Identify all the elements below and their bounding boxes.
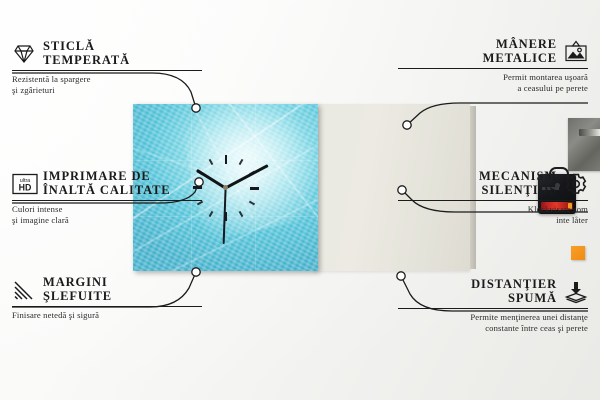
metal-hanger-plate — [568, 118, 600, 171]
callout-title: MÂNEREMETALICE — [483, 38, 557, 65]
ultra-hd-icon: ultra HD — [12, 172, 36, 196]
hanger-slot — [579, 129, 600, 136]
callout-title: MARGINIŞLEFUITE — [43, 276, 112, 303]
callout-margini-slefuite: MARGINIŞLEFUITE Finisare netedă şi sigur… — [12, 276, 202, 321]
callout-header: MECANISMSILENŢIOS — [398, 170, 588, 197]
foam-spacer — [571, 246, 585, 260]
callout-subtitle: Permite menţinerea unei distanţeconstant… — [398, 312, 588, 333]
callout-rule — [12, 306, 202, 307]
svg-text:HD: HD — [19, 182, 32, 192]
callout-title: STICLĂTEMPERATĂ — [43, 40, 130, 67]
diamond-icon — [12, 42, 36, 66]
callout-header: ultra HD IMPRIMARE DEÎNALTĂ CALITATE — [12, 170, 202, 197]
callout-distantier-spuma: DISTANŢIERSPUMĂ Permite menţinerea unei … — [398, 278, 588, 333]
callout-mecanism-silentios: MECANISMSILENŢIOS Klockvisare sominte lå… — [398, 170, 588, 225]
callout-header: DISTANŢIERSPUMĂ — [398, 278, 588, 305]
callout-rule — [12, 200, 202, 201]
callout-manere-metalice: MÂNEREMETALICE Permit montarea uşoarăa c… — [398, 38, 588, 93]
callout-title: DISTANŢIERSPUMĂ — [471, 278, 557, 305]
callout-title: IMPRIMARE DEÎNALTĂ CALITATE — [43, 170, 171, 197]
callout-subtitle: Culori intenseşi imagine clară — [12, 204, 202, 225]
gear-icon — [564, 172, 588, 196]
picture-hanger-icon — [564, 40, 588, 64]
callout-header: MARGINIŞLEFUITE — [12, 276, 202, 303]
callout-rule — [398, 308, 588, 309]
clock-center-pin — [223, 185, 228, 190]
callout-rule — [398, 200, 588, 201]
callout-rule — [398, 68, 588, 69]
callout-subtitle: Rezistentă la spargereşi zgârieturi — [12, 74, 202, 95]
callout-subtitle: Klockvisare sominte låter — [398, 204, 588, 225]
callout-subtitle: Permit montarea uşoarăa ceasului pe pere… — [398, 72, 588, 93]
beveled-edge-icon — [12, 278, 36, 302]
callout-header: MÂNEREMETALICE — [398, 38, 588, 65]
callout-sticla-temperata: STICLĂTEMPERATĂ Rezistentă la spargereşi… — [12, 40, 202, 95]
infographic-canvas: STICLĂTEMPERATĂ Rezistentă la spargereşi… — [0, 0, 600, 400]
content-layer: STICLĂTEMPERATĂ Rezistentă la spargereşi… — [0, 0, 600, 400]
callout-title: MECANISMSILENŢIOS — [479, 170, 557, 197]
spacer-arrow-icon — [564, 280, 588, 304]
callout-subtitle: Finisare netedă şi sigură — [12, 310, 202, 320]
callout-header: STICLĂTEMPERATĂ — [12, 40, 202, 67]
callout-rule — [12, 70, 202, 71]
callout-imprimare-inalta-calitate: ultra HD IMPRIMARE DEÎNALTĂ CALITATE Cul… — [12, 170, 202, 225]
